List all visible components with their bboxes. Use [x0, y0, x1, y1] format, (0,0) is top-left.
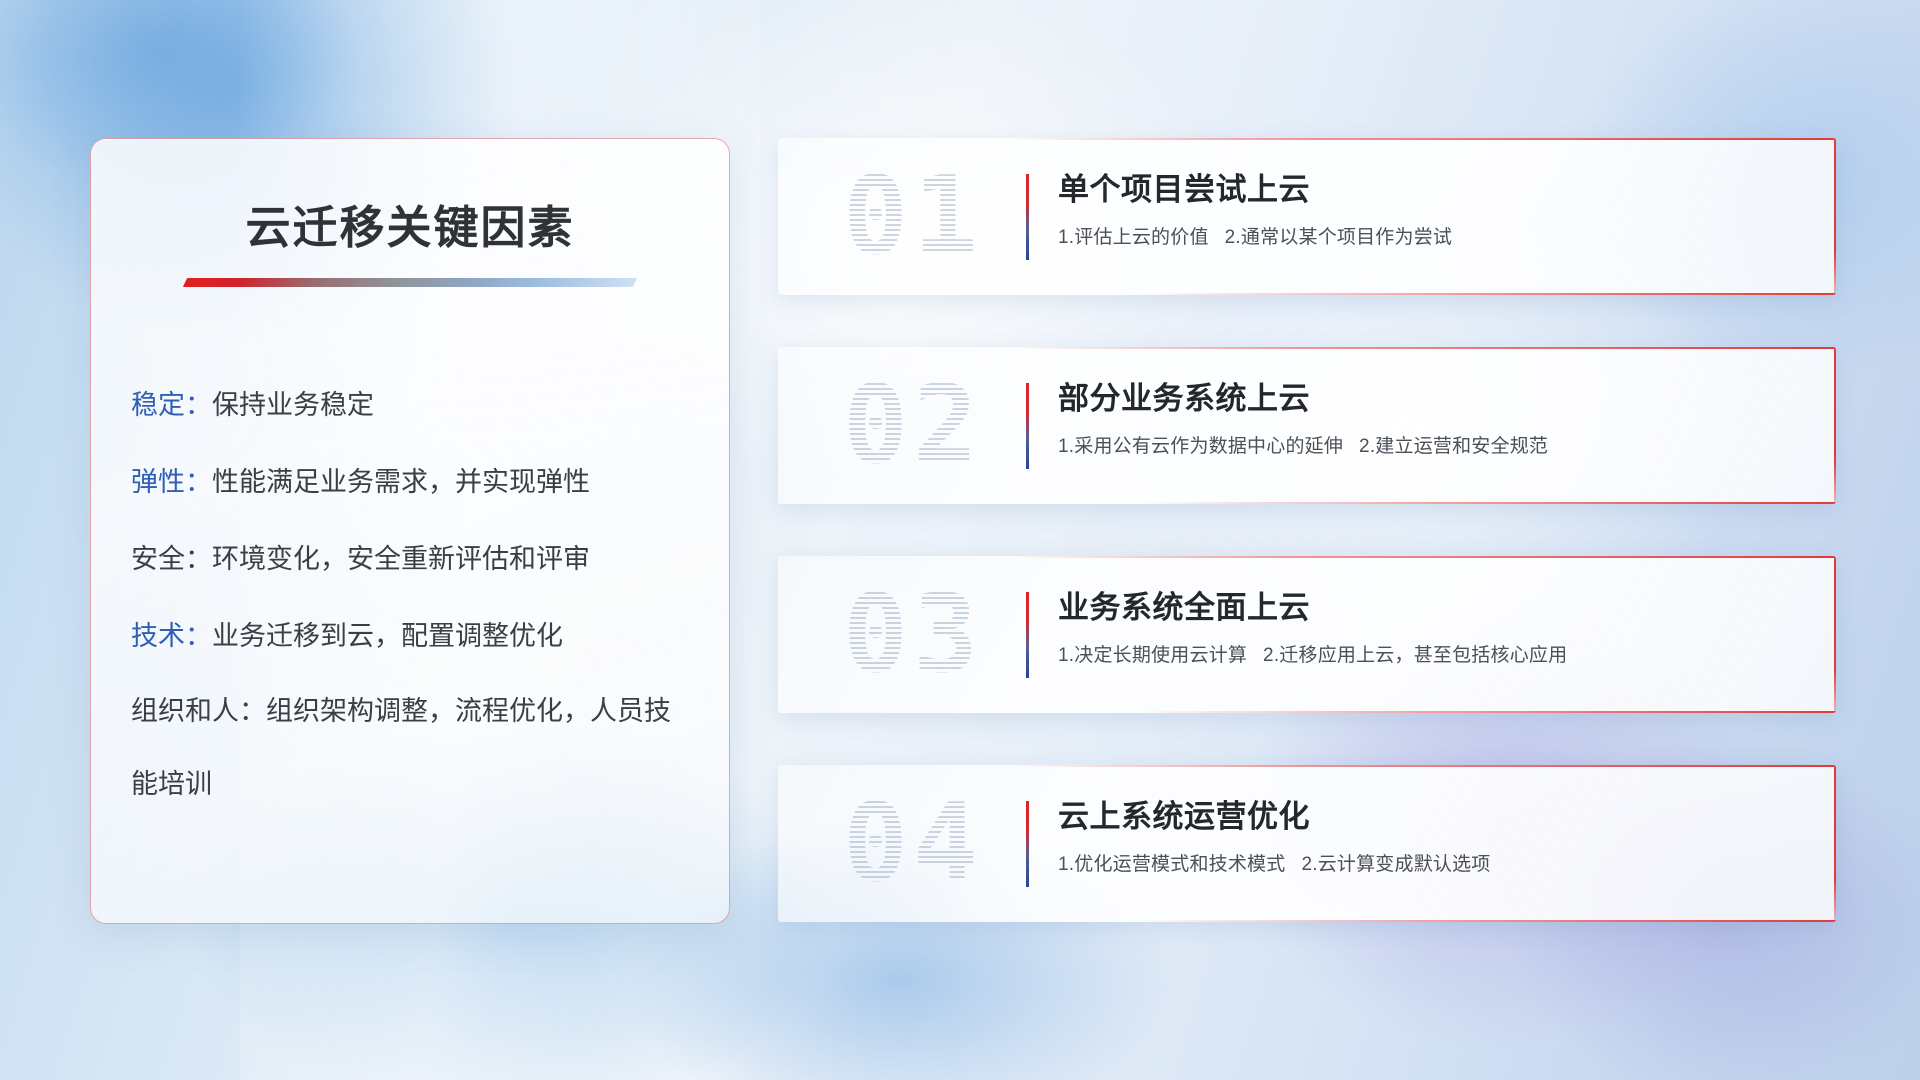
card-top-accent-line	[1011, 347, 1836, 349]
factor-item-stability: 稳定：保持业务稳定	[131, 367, 693, 444]
factor-item-elasticity: 弹性：性能满足业务需求，并实现弹性	[131, 444, 693, 521]
stage-card-body: 业务系统全面上云 1.决定长期使用云计算2.迁移应用上云，甚至包括核心应用	[1058, 586, 1796, 670]
factor-label: 安全：	[131, 544, 212, 574]
stage-point-1: 1.决定长期使用云计算	[1058, 645, 1247, 666]
stage-title: 业务系统全面上云	[1058, 586, 1796, 630]
stage-divider-bar	[1026, 383, 1029, 469]
factor-item-organization-and-people: 组织和人：组织架构调整，流程优化，人员技能培训	[131, 675, 693, 821]
stage-divider-bar	[1026, 801, 1029, 887]
factor-text: 性能满足业务需求，并实现弹性	[212, 467, 590, 497]
factor-text: 保持业务稳定	[212, 390, 374, 420]
card-right-accent-line	[1834, 765, 1836, 922]
stage-card-04[interactable]: 04 云上系统运营优化 1.优化运营模式和技术模式2.云计算变成默认选项	[778, 765, 1836, 922]
factor-item-technology: 技术：业务迁移到云，配置调整优化	[131, 598, 693, 675]
stage-point-1: 1.优化运营模式和技术模式	[1058, 854, 1285, 875]
stage-point-2: 2.云计算变成默认选项	[1301, 854, 1490, 875]
card-right-accent-line	[1834, 138, 1836, 295]
stage-card-02[interactable]: 02 部分业务系统上云 1.采用公有云作为数据中心的延伸2.建立运营和安全规范	[778, 347, 1836, 504]
panel-title: 云迁移关键因素	[91, 191, 729, 256]
stage-title: 云上系统运营优化	[1058, 795, 1796, 839]
slide-content: 云迁移关键因素 稳定：保持业务稳定 弹性：性能满足业务需求，并实现弹性 安全：环…	[0, 0, 1920, 1080]
key-factors-list: 稳定：保持业务稳定 弹性：性能满足业务需求，并实现弹性 安全：环境变化，安全重新…	[91, 367, 729, 821]
title-underline-rule	[183, 278, 637, 287]
stage-point-2: 2.通常以某个项目作为尝试	[1225, 227, 1452, 248]
stage-point-2: 2.建立运营和安全规范	[1359, 436, 1548, 457]
stage-title: 单个项目尝试上云	[1058, 168, 1796, 212]
key-factors-panel: 云迁移关键因素 稳定：保持业务稳定 弹性：性能满足业务需求，并实现弹性 安全：环…	[90, 138, 730, 924]
stage-point-2: 2.迁移应用上云，甚至包括核心应用	[1263, 645, 1567, 666]
factor-label: 稳定：	[131, 390, 212, 420]
stage-card-01[interactable]: 01 单个项目尝试上云 1.评估上云的价值2.通常以某个项目作为尝试	[778, 138, 1836, 295]
stage-card-03[interactable]: 03 业务系统全面上云 1.决定长期使用云计算2.迁移应用上云，甚至包括核心应用	[778, 556, 1836, 713]
card-top-accent-line	[1011, 138, 1836, 140]
stage-divider-bar	[1026, 592, 1029, 678]
factor-label: 弹性：	[131, 467, 212, 497]
stage-point-1: 1.采用公有云作为数据中心的延伸	[1058, 436, 1343, 457]
factor-label: 技术：	[131, 621, 212, 651]
card-right-accent-line	[1834, 556, 1836, 713]
stage-title: 部分业务系统上云	[1058, 377, 1796, 421]
stage-number: 04	[818, 765, 1008, 922]
stage-card-body: 云上系统运营优化 1.优化运营模式和技术模式2.云计算变成默认选项	[1058, 795, 1796, 879]
factor-item-security: 安全：环境变化，安全重新评估和评审	[131, 521, 693, 598]
stage-number: 03	[818, 556, 1008, 713]
cloud-migration-stages-list: 01 单个项目尝试上云 1.评估上云的价值2.通常以某个项目作为尝试 02 部分…	[778, 138, 1836, 922]
factor-text: 业务迁移到云，配置调整优化	[212, 621, 563, 651]
stage-description: 1.采用公有云作为数据中心的延伸2.建立运营和安全规范	[1058, 433, 1796, 461]
stage-number: 02	[818, 347, 1008, 504]
card-top-accent-line	[1011, 556, 1836, 558]
stage-description: 1.评估上云的价值2.通常以某个项目作为尝试	[1058, 224, 1796, 252]
card-right-accent-line	[1834, 347, 1836, 504]
stage-number: 01	[818, 138, 1008, 295]
factor-label: 组织和人：	[131, 696, 266, 726]
card-bottom-accent-line	[1138, 711, 1836, 713]
card-bottom-accent-line	[1138, 920, 1836, 922]
stage-card-body: 部分业务系统上云 1.采用公有云作为数据中心的延伸2.建立运营和安全规范	[1058, 377, 1796, 461]
stage-divider-bar	[1026, 174, 1029, 260]
card-bottom-accent-line	[1138, 502, 1836, 504]
stage-description: 1.优化运营模式和技术模式2.云计算变成默认选项	[1058, 851, 1796, 879]
factor-text: 环境变化，安全重新评估和评审	[212, 544, 590, 574]
stage-point-1: 1.评估上云的价值	[1058, 227, 1209, 248]
stage-card-body: 单个项目尝试上云 1.评估上云的价值2.通常以某个项目作为尝试	[1058, 168, 1796, 252]
stage-description: 1.决定长期使用云计算2.迁移应用上云，甚至包括核心应用	[1058, 642, 1796, 670]
card-bottom-accent-line	[1138, 293, 1836, 295]
card-top-accent-line	[1011, 765, 1836, 767]
